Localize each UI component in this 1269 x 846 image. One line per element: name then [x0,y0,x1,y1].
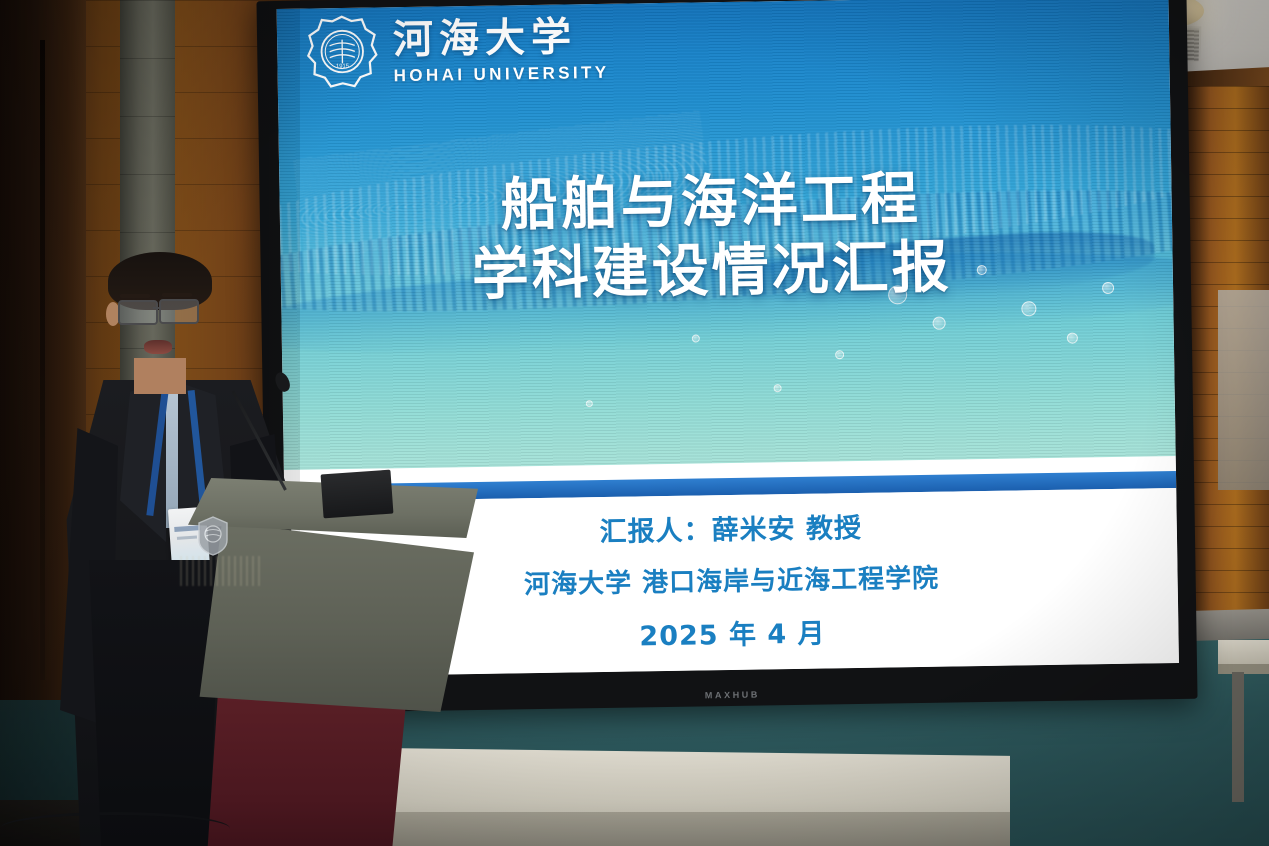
hohai-university-seal-icon: 1915 [305,13,380,92]
slide-affiliation: 河海大学 港口海岸与近海工程学院 [524,555,940,611]
presenter-eyebrow-right [162,293,192,297]
glasses-lens-right [159,299,199,324]
slide-presenter: 汇报人：薛米安 教授 [599,503,862,558]
slide-header-area: 1915 河海大学 HOHAI UNIVERSITY 船舶与海洋工程 学科建设情… [277,0,1176,470]
lectern-base [206,692,406,846]
bubble-icon [835,350,844,359]
side-table-top [1218,640,1269,666]
side-table-leg [1232,672,1244,802]
glasses-bridge [153,307,161,309]
conference-room-scene: MAXHUB [0,0,1269,846]
presenter-eyebrow-left [120,294,150,298]
bubble-icon [586,400,593,407]
slide-title-line-2: 学科建设情况汇报 [280,231,1143,314]
presenter-mouth [144,340,172,354]
door-gap [40,40,45,680]
slide-title: 船舶与海洋工程 学科建设情况汇报 [279,161,1143,314]
podium-monitor [321,470,394,519]
podium-nameplate [180,556,260,586]
lectern-body [194,522,474,712]
logo-text-block: 河海大学 HOHAI UNIVERSITY [393,17,610,84]
side-table [1218,640,1269,846]
podium-crest-emblem [196,516,230,556]
university-logo: 1915 河海大学 HOHAI UNIVERSITY [305,10,610,93]
display-brand-label: MAXHUB [705,690,760,701]
slide-date: 2025 年 4 月 [639,608,826,662]
bubble-icon [773,384,781,392]
floor-cable [0,812,230,845]
right-wall-panel [1218,290,1269,490]
logo-name-cn: 河海大学 [393,17,610,60]
bubble-icon [1067,333,1078,344]
svg-text:1915: 1915 [336,64,350,70]
glasses-icon [118,300,158,325]
logo-name-en: HOHAI UNIVERSITY [394,64,610,84]
